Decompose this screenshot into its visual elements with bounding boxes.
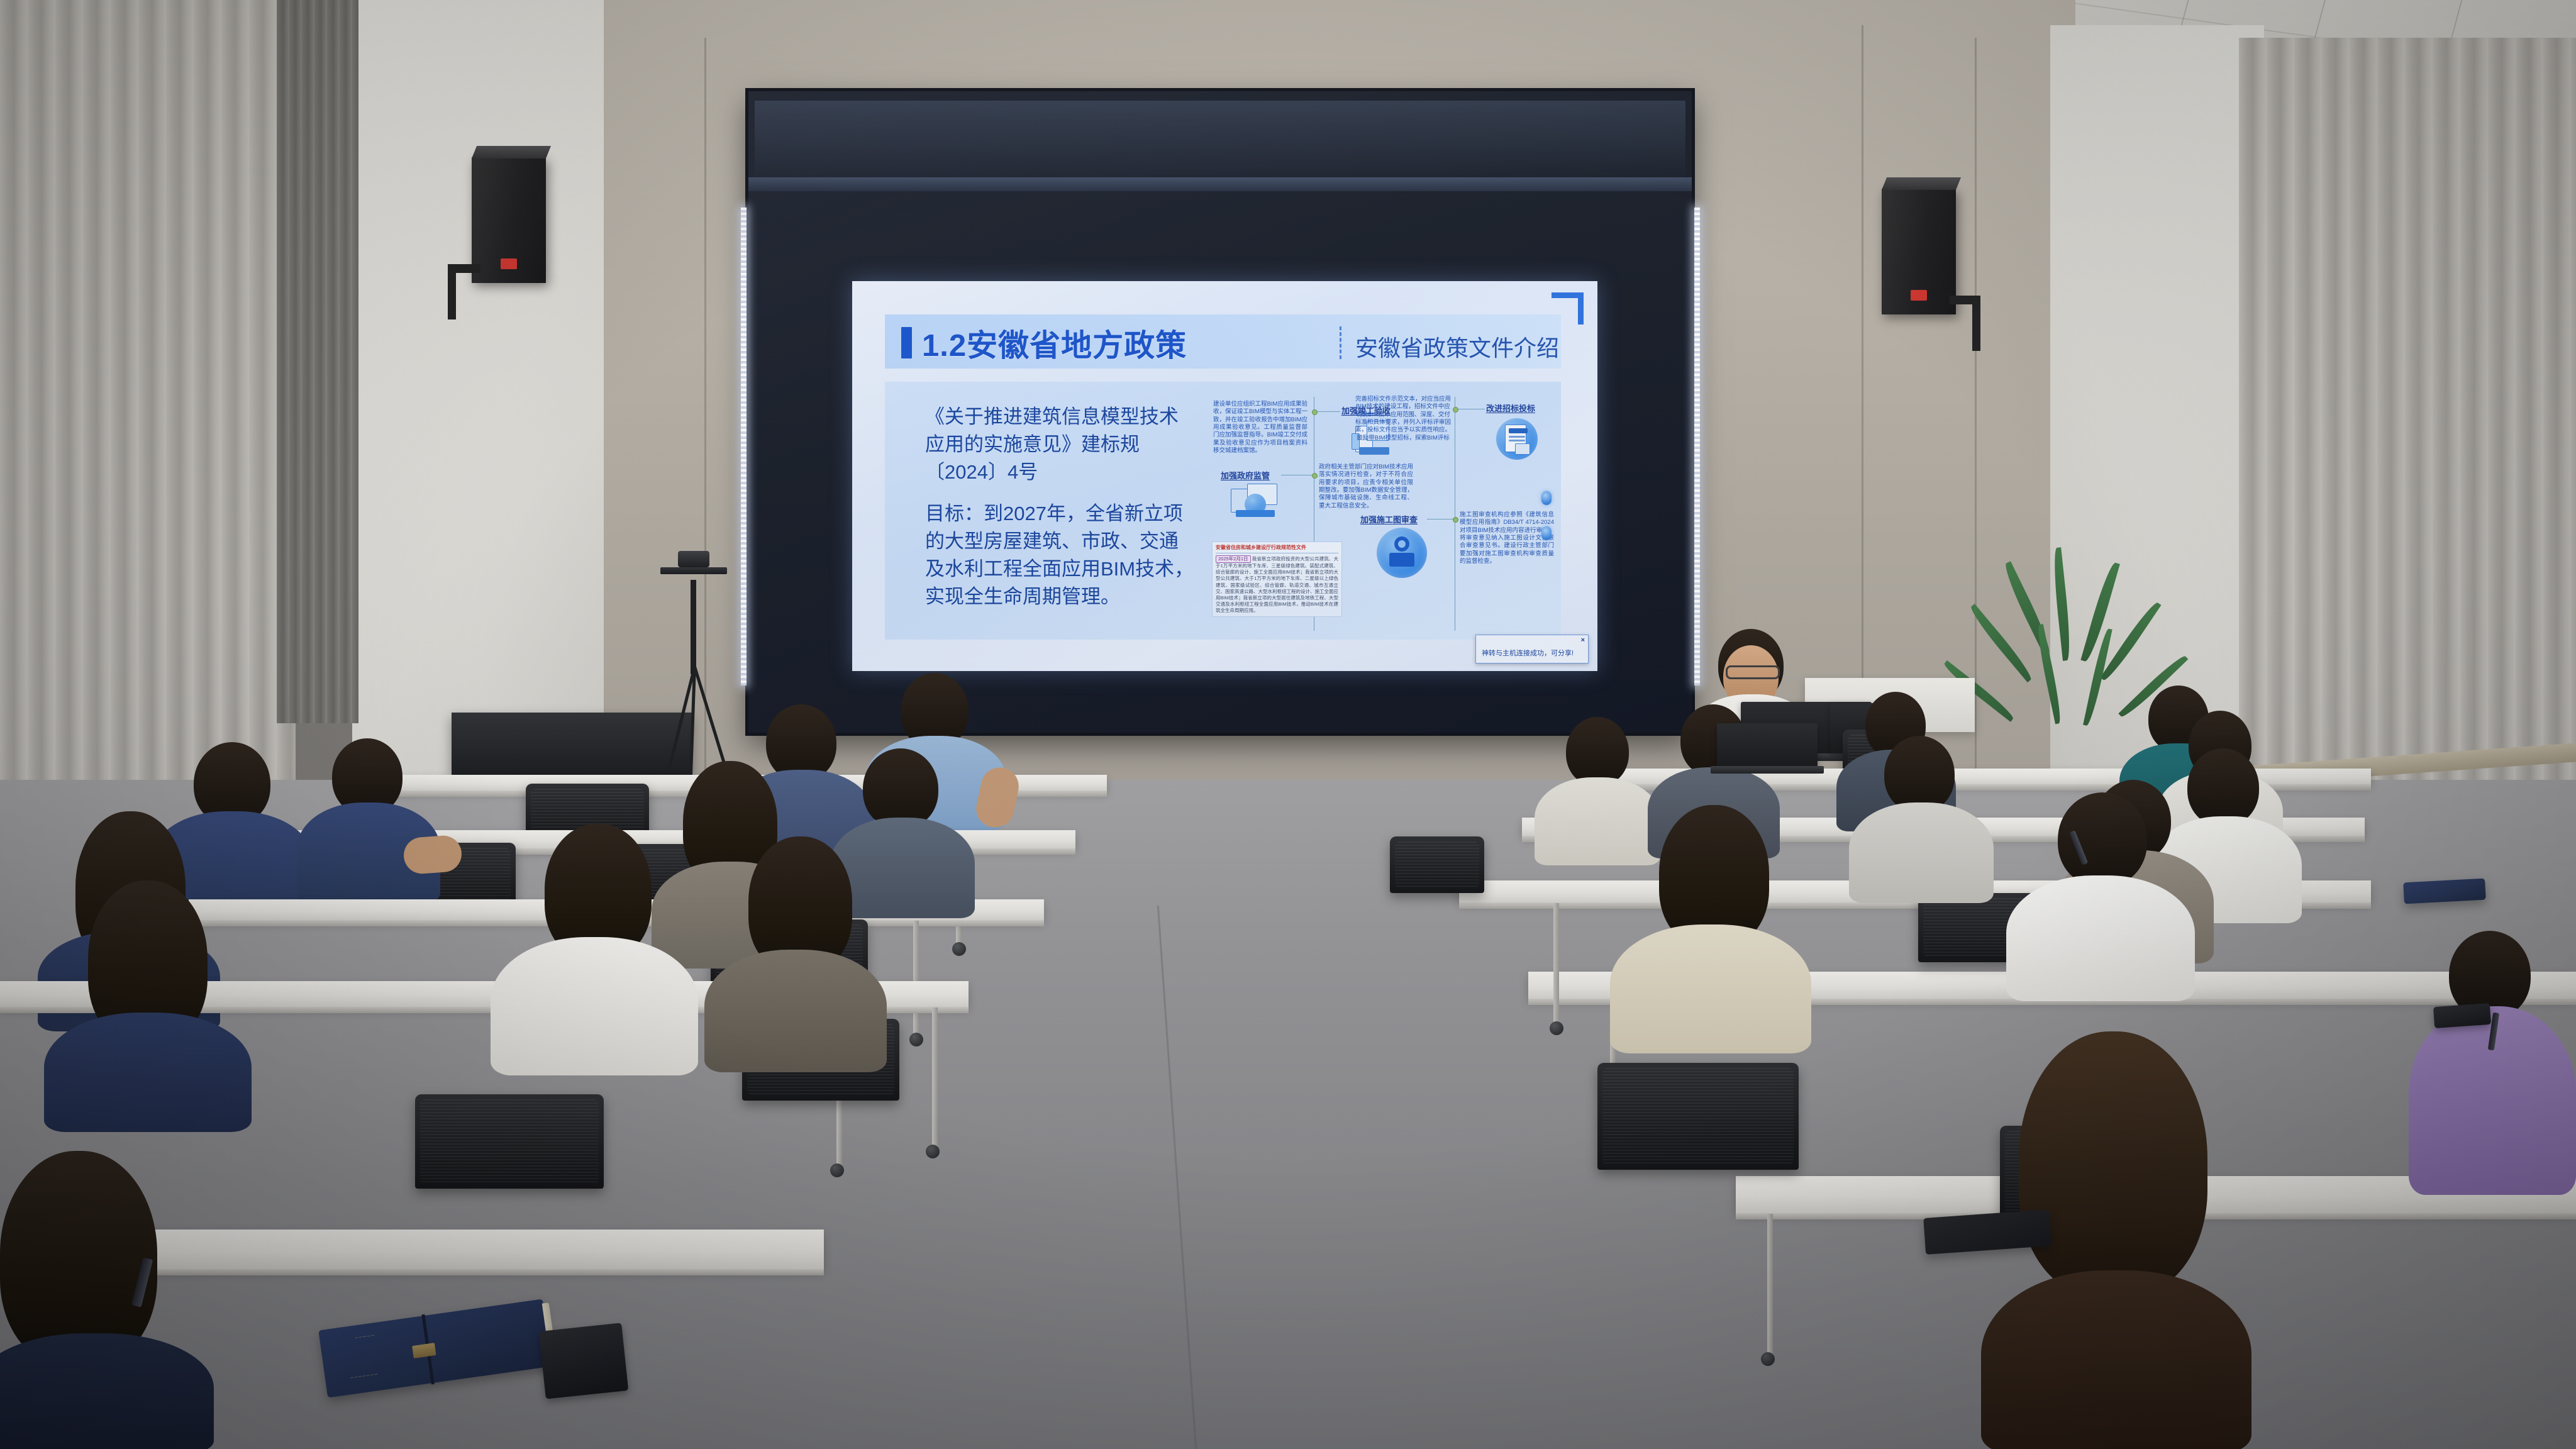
attendee-right-r4-b bbox=[2006, 792, 2195, 1006]
slide-paragraph-1: 《关于推进建筑信息模型技术应用的实施意见》建标规〔2024〕4号 bbox=[925, 403, 1196, 486]
desk-caster bbox=[830, 1163, 844, 1177]
toast-close-icon[interactable]: × bbox=[1581, 636, 1585, 644]
notebook-emboss-top: ⎯⎯⎯⎯⎯ bbox=[355, 1331, 376, 1341]
diagram-node-2-text: 政府相关主管部门应对BIM技术应用落实情况进行检查，对于不符合应用要求的项目，应… bbox=[1319, 464, 1413, 510]
diagram-pill-icon-2 bbox=[1541, 526, 1552, 540]
phone-right-desk[interactable] bbox=[2433, 1003, 2491, 1028]
head bbox=[863, 748, 938, 829]
diagram-node-4-text: 施工图审查机构应参照《建筑信息模型应用指南》DB34/T 4714-2024对项… bbox=[1460, 511, 1554, 565]
torso bbox=[1849, 802, 1994, 903]
curtain-left-dark bbox=[277, 0, 358, 723]
speaker-top-face bbox=[472, 146, 551, 158]
document-card-rule bbox=[1216, 553, 1338, 553]
desk-caster bbox=[909, 1033, 923, 1046]
document-card-body: 2025年2月1日 我省新立项政府投资的大型公共建筑、大于1万平方米的地下车库、… bbox=[1216, 555, 1338, 614]
attendee-right-r3-a bbox=[1849, 736, 1994, 899]
hair bbox=[0, 1151, 157, 1365]
notebook-right-desk bbox=[2403, 879, 2486, 904]
torso bbox=[0, 1333, 214, 1449]
chair-left-row4-a bbox=[415, 1094, 604, 1189]
desk-caster bbox=[952, 942, 966, 956]
torso bbox=[2006, 875, 2195, 1001]
phone-foreground[interactable] bbox=[539, 1323, 629, 1399]
diagram-node-4-dot-icon bbox=[1453, 517, 1458, 523]
speaker-top-face bbox=[1882, 177, 1961, 190]
diagram-node-2-label: 加强政府监管 bbox=[1221, 471, 1270, 481]
left-wall bbox=[352, 0, 604, 818]
slide-diagram: 建设单位应组织工程BIM应用成果验收，保证竣工BIM模型与实体工程一致，并在竣工… bbox=[1212, 391, 1555, 637]
slide-title-group: 1.2安徽省地方政策 bbox=[901, 320, 1187, 365]
head bbox=[1884, 736, 1955, 813]
desk-caster bbox=[1761, 1352, 1775, 1366]
diagram-pill-icon-1 bbox=[1541, 491, 1552, 505]
document-card-header: 安徽省住房和城乡建设厅行政规范性文件 bbox=[1216, 545, 1338, 551]
attendee-right-edge bbox=[2409, 931, 2576, 1195]
desk-leg bbox=[913, 921, 919, 1040]
head bbox=[1566, 717, 1629, 786]
diagram-document-card: 安徽省住房和城乡建设厅行政规范性文件 2025年2月1日 我省新立项政府投资的大… bbox=[1212, 541, 1342, 617]
drawing-review-stamp-icon bbox=[1377, 528, 1427, 578]
curtain-left bbox=[0, 0, 296, 799]
diagram-node-2-dot-icon bbox=[1312, 473, 1318, 479]
screen-edge-light-right bbox=[1694, 208, 1700, 686]
desk-caster bbox=[926, 1145, 940, 1158]
slide-body-text: 《关于推进建筑信息模型技术应用的实施意见》建标规〔2024〕4号 目标：到202… bbox=[925, 403, 1196, 625]
jbl-badge-icon bbox=[1911, 290, 1927, 301]
attendee-left-r4-a bbox=[44, 880, 252, 1107]
right-wall-speaker bbox=[1882, 189, 1956, 314]
tripod-leg bbox=[693, 666, 729, 775]
diagram-node-4-body: 施工图审查机构应参照《建筑信息模型应用指南》DB34/T 4714-2024对项… bbox=[1460, 511, 1554, 565]
diagram-spine-right bbox=[1455, 397, 1455, 631]
left-wall-speaker bbox=[472, 157, 546, 283]
presentation-slide: 1.2安徽省地方政策 安徽省政策文件介绍 《关于推进建筑信息模型技术应用的实施意… bbox=[852, 281, 1597, 671]
chair-mesh bbox=[1602, 1068, 1794, 1165]
desk-left-front bbox=[107, 1230, 824, 1270]
diagram-node-3-dot-icon bbox=[1453, 407, 1458, 413]
desk-leg bbox=[1553, 903, 1559, 1029]
tripod-center-column bbox=[691, 580, 696, 674]
chair-mesh bbox=[1395, 841, 1479, 888]
diagram-node-4-label: 加强施工图审查 bbox=[1360, 515, 1418, 525]
slide-paragraph-2: 目标：到2027年，全省新立项的大型房屋建筑、市政、交通及水利工程全面应用BIM… bbox=[925, 500, 1196, 611]
hair bbox=[2019, 1031, 2207, 1296]
diagram-node-3-connector bbox=[1457, 409, 1485, 409]
diagram-node-1-body: 建设单位应组织工程BIM应用成果验收，保证竣工BIM模型与实体工程一致，并在竣工… bbox=[1213, 401, 1307, 455]
head bbox=[2058, 792, 2147, 887]
desk-leg bbox=[1767, 1214, 1773, 1358]
bidding-documents-icon bbox=[1496, 418, 1538, 460]
slide-title: 1.2安徽省地方政策 bbox=[922, 321, 1187, 365]
title-bullet-icon bbox=[901, 327, 912, 358]
screen-mount-bar bbox=[748, 177, 1692, 191]
curtain-right bbox=[2239, 38, 2576, 780]
diagram-node-3-text: 完善招标文件示范文本，对应当应用BIM技术的建设工程，招标文件中应明确BIM技术… bbox=[1355, 396, 1451, 442]
attendee-right-r4-a bbox=[1610, 805, 1811, 1038]
diagram-node-3-body: 完善招标文件示范文本，对应当应用BIM技术的建设工程，招标文件中应明确BIM技术… bbox=[1355, 396, 1451, 442]
right-speaker-post bbox=[1972, 296, 1980, 351]
toast-message: 神转与主机连接成功，可分享! bbox=[1482, 648, 1574, 658]
arm bbox=[402, 835, 463, 875]
diagram-node-1-text: 建设单位应组织工程BIM应用成果验收，保证竣工BIM模型与实体工程一致，并在竣工… bbox=[1213, 401, 1307, 455]
torso bbox=[491, 937, 698, 1075]
government-supervision-icon bbox=[1231, 482, 1285, 520]
attendee-left-foreground bbox=[0, 1151, 214, 1449]
classroom-scene: 1.2安徽省地方政策 安徽省政策文件介绍 《关于推进建筑信息模型技术应用的实施意… bbox=[0, 0, 2576, 1449]
diagram-node-1-connector bbox=[1316, 411, 1340, 412]
torso bbox=[704, 950, 887, 1072]
laptop-base bbox=[1711, 766, 1823, 774]
slide-body-band: 《关于推进建筑信息模型技术应用的实施意见》建标规〔2024〕4号 目标：到202… bbox=[885, 382, 1561, 640]
plant-leaf bbox=[2051, 547, 2073, 661]
desk-edge bbox=[107, 1269, 824, 1275]
attendee-laptop-right[interactable] bbox=[1717, 723, 1818, 767]
diagram-node-1-dot-icon bbox=[1312, 409, 1318, 415]
camera-mount-bar bbox=[660, 567, 727, 574]
notebook-buckle bbox=[412, 1343, 436, 1358]
left-speaker-post bbox=[448, 264, 456, 319]
torso bbox=[1981, 1270, 2251, 1449]
title-divider bbox=[1340, 326, 1341, 359]
diagram-node-2-body: 政府相关主管部门应对BIM技术应用落实情况进行检查，对于不符合应用要求的项目，应… bbox=[1319, 464, 1413, 510]
diagram-node-2-connector bbox=[1281, 475, 1313, 475]
document-card-text: 我省新立项政府投资的大型公共建筑、大于1万平方米的地下车库、三星级绿色建筑、装配… bbox=[1216, 556, 1338, 613]
jbl-badge-icon bbox=[501, 258, 517, 269]
presenter-glasses-icon bbox=[1726, 665, 1780, 679]
desk-leg bbox=[932, 1008, 938, 1152]
connection-toast[interactable]: × 神转与主机连接成功，可分享! bbox=[1475, 635, 1589, 663]
chair-right-row4 bbox=[1597, 1063, 1799, 1170]
diagram-node-3-label: 改进招标投标 bbox=[1486, 404, 1535, 414]
chair-right-row2 bbox=[1390, 836, 1484, 893]
wall-seam-2 bbox=[1862, 25, 1863, 780]
desk-caster bbox=[1550, 1021, 1563, 1035]
attendee-left-r4-b bbox=[491, 824, 698, 1069]
attendee-left-r4-c bbox=[704, 836, 887, 1057]
document-date-chip-1: 2025年2月1日 bbox=[1216, 555, 1251, 563]
notebook-emboss-bottom: ⎯⎯⎯⎯⎯⎯⎯ bbox=[350, 1370, 379, 1381]
torso bbox=[44, 1013, 252, 1132]
slide-subtitle: 安徽省政策文件介绍 bbox=[1355, 330, 1559, 363]
chair-mesh bbox=[420, 1099, 599, 1184]
plant-leaf bbox=[2035, 624, 2064, 724]
attendee-left-r2-b bbox=[296, 736, 440, 893]
diagram-node-4-connector bbox=[1427, 519, 1453, 519]
torso bbox=[1610, 924, 1811, 1053]
conference-camera-icon bbox=[678, 551, 709, 567]
